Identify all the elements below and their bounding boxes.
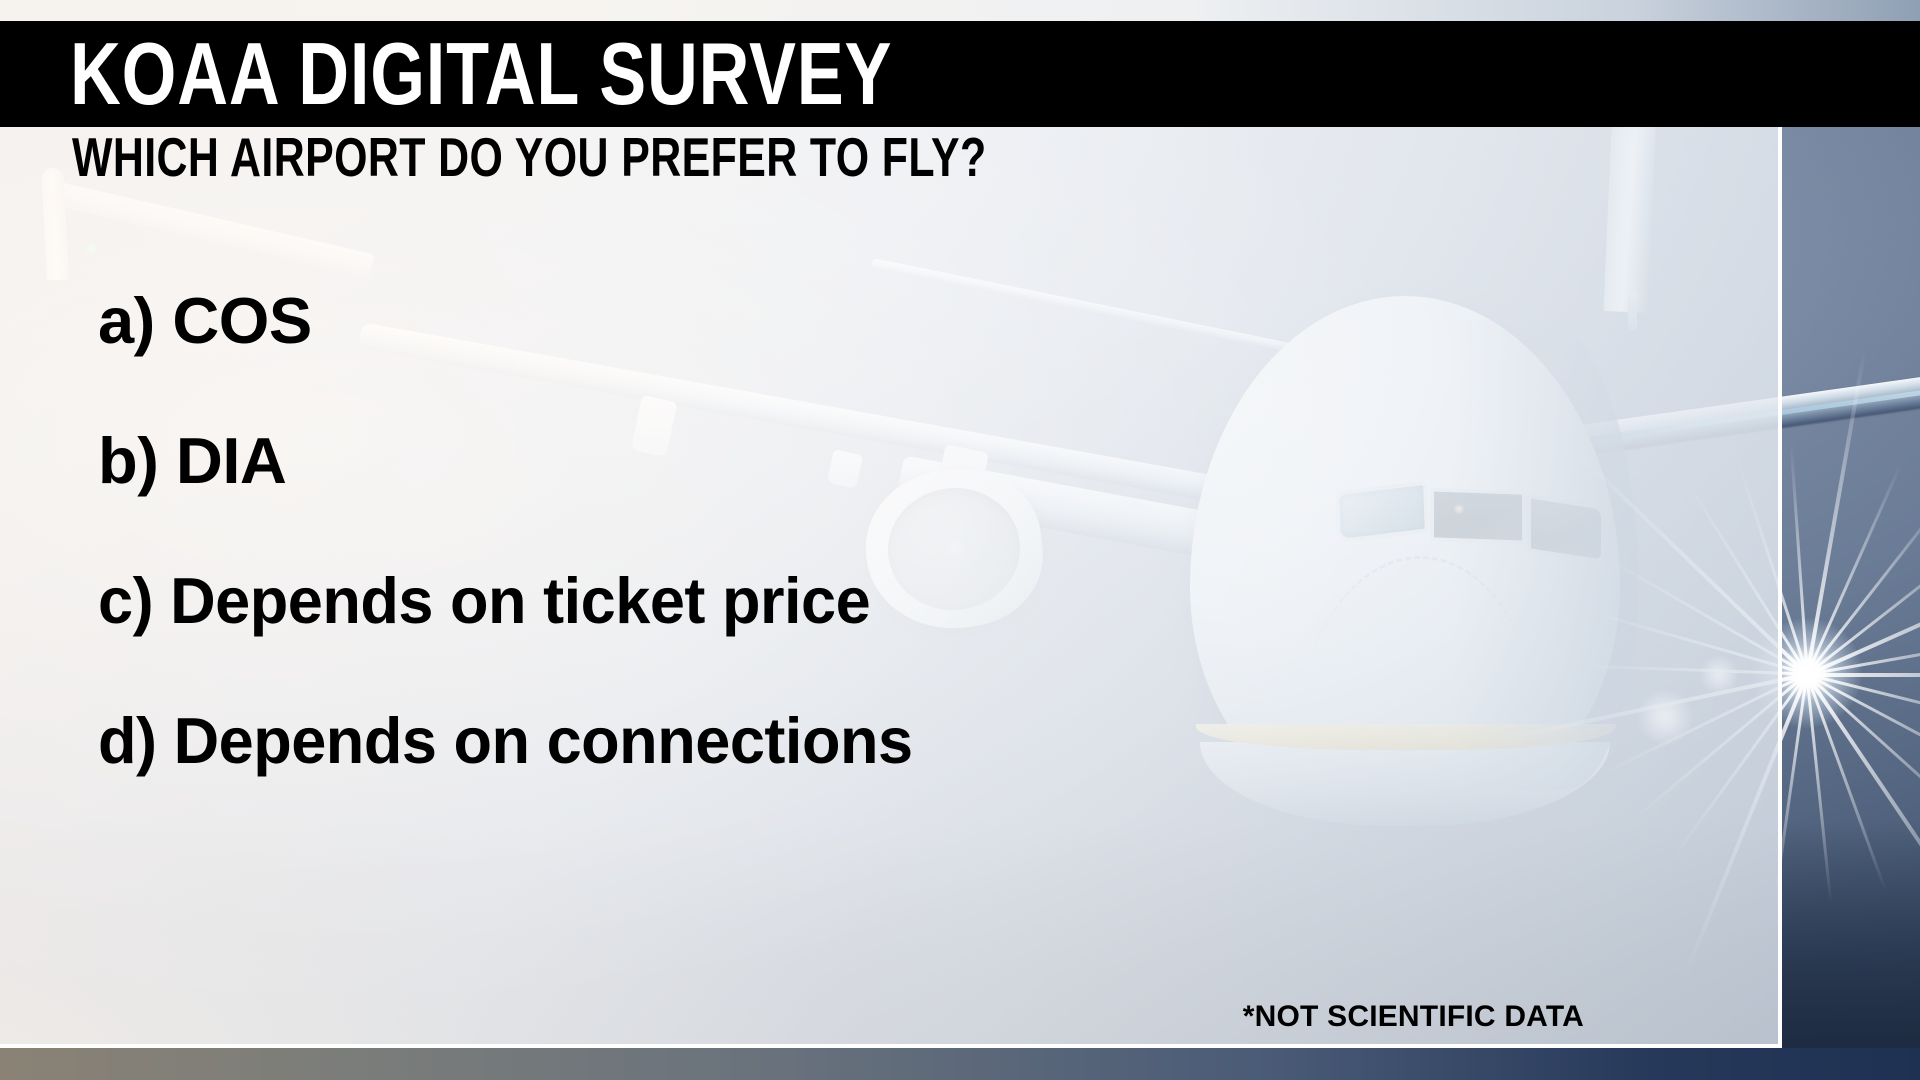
page-title: KOAA DIGITAL SURVEY (70, 30, 892, 118)
survey-graphic: KOAA DIGITAL SURVEY WHICH AIRPORT DO YOU… (0, 0, 1920, 1080)
bottom-photo-strip (0, 1048, 1920, 1080)
top-light-band (0, 0, 1920, 21)
answer-options-list: a) COS b) DIA c) Depends on ticket price… (98, 250, 1398, 810)
answer-option-c[interactable]: c) Depends on ticket price (98, 530, 1359, 670)
disclaimer-note: *NOT SCIENTIFIC DATA (1243, 1000, 1584, 1034)
answer-option-b[interactable]: b) DIA (98, 390, 1398, 530)
survey-question: WHICH AIRPORT DO YOU PREFER TO FLY? (72, 125, 987, 190)
answer-option-d[interactable]: d) Depends on connections (98, 670, 1359, 810)
answer-option-a[interactable]: a) COS (98, 250, 1398, 390)
header-bar: KOAA DIGITAL SURVEY (0, 21, 1920, 127)
